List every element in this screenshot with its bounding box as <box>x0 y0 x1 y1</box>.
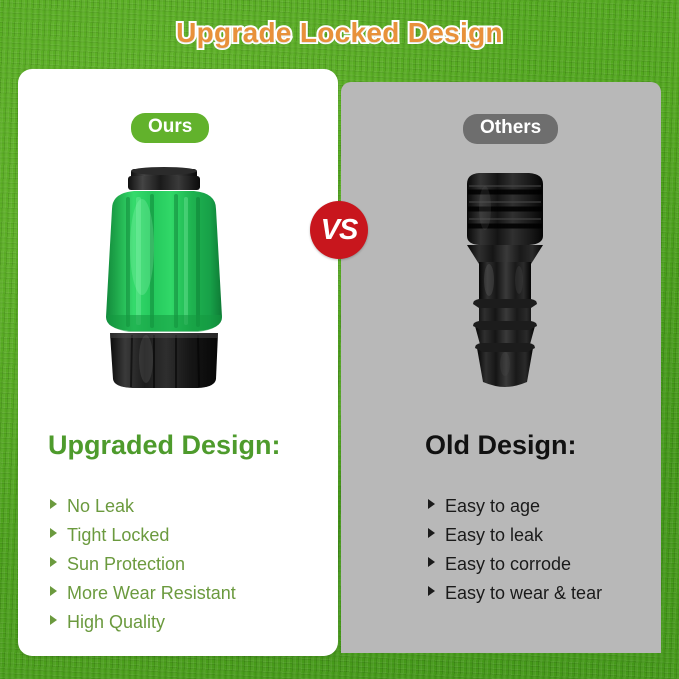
list-item-label: High Quality <box>67 608 165 637</box>
black-barbed-connector-image <box>455 168 555 390</box>
list-item: Easy to wear & tear <box>428 579 602 608</box>
others-feature-list: Easy to age Easy to leak Easy to corrode… <box>428 492 602 608</box>
list-item-label: Sun Protection <box>67 550 185 579</box>
vs-badge-label: VS <box>310 201 368 259</box>
list-item: Easy to age <box>428 492 602 521</box>
list-item: Tight Locked <box>50 521 236 550</box>
triangle-bullet-icon <box>50 586 57 596</box>
triangle-bullet-icon <box>50 499 57 509</box>
list-item-label: Easy to leak <box>445 521 543 550</box>
triangle-bullet-icon <box>428 499 435 509</box>
others-badge: Others <box>463 114 558 144</box>
list-item-label: More Wear Resistant <box>67 579 236 608</box>
list-item: High Quality <box>50 608 236 637</box>
list-item-label: Tight Locked <box>67 521 169 550</box>
triangle-bullet-icon <box>50 557 57 567</box>
vs-badge: VS <box>310 201 368 259</box>
ours-badge: Ours <box>131 113 209 143</box>
triangle-bullet-icon <box>50 615 57 625</box>
triangle-bullet-icon <box>428 557 435 567</box>
list-item-label: Easy to age <box>445 492 540 521</box>
list-item-label: No Leak <box>67 492 134 521</box>
others-heading: Old Design: <box>425 430 577 461</box>
list-item: Sun Protection <box>50 550 236 579</box>
list-item: Easy to corrode <box>428 550 602 579</box>
ours-heading: Upgraded Design: <box>48 430 281 461</box>
list-item: No Leak <box>50 492 236 521</box>
triangle-bullet-icon <box>428 528 435 538</box>
list-item: More Wear Resistant <box>50 579 236 608</box>
comparison-infographic: Upgrade Locked Design Ours Others <box>0 0 679 679</box>
triangle-bullet-icon <box>428 586 435 596</box>
list-item: Easy to leak <box>428 521 602 550</box>
green-hose-connector-image <box>76 167 251 392</box>
list-item-label: Easy to corrode <box>445 550 571 579</box>
list-item-label: Easy to wear & tear <box>445 579 602 608</box>
triangle-bullet-icon <box>50 528 57 538</box>
ours-feature-list: No Leak Tight Locked Sun Protection More… <box>50 492 236 637</box>
page-title: Upgrade Locked Design <box>0 17 679 49</box>
